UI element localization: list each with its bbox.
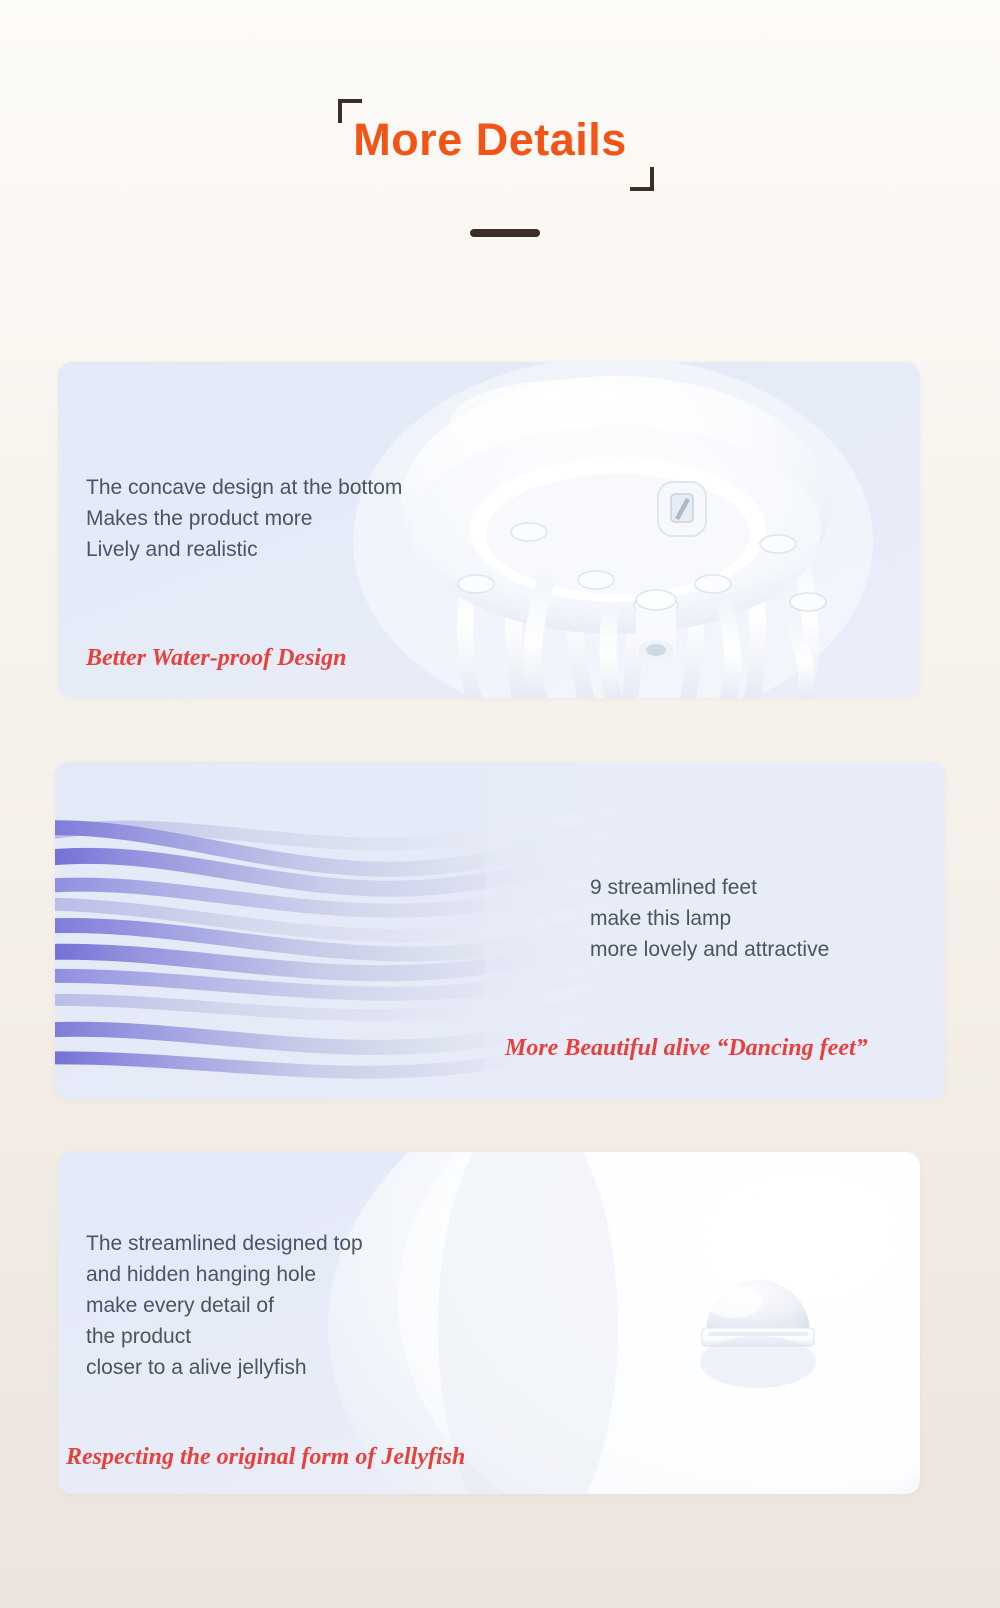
card-2-tagline: More Beautiful alive “Dancing feet” [505, 1035, 868, 1062]
detail-card-hanging-hole: The streamlined designed top and hidden … [58, 1152, 920, 1494]
card-1-body-text: The concave design at the bottom Makes t… [86, 472, 402, 565]
card-3-body-text: The streamlined designed top and hidden … [86, 1228, 363, 1383]
title-underline-dash [470, 229, 540, 237]
corner-bracket-bottom-right-icon [630, 167, 654, 191]
detail-card-waterproof: The concave design at the bottom Makes t… [58, 362, 920, 698]
page-title: More Details [330, 117, 650, 162]
card-2-body-text: 9 streamlined feet make this lamp more l… [590, 872, 829, 965]
card-3-tagline: Respecting the original form of Jellyfis… [66, 1444, 465, 1471]
page-header: More Details [0, 0, 1000, 300]
card-1-tagline: Better Water-proof Design [86, 645, 346, 672]
title-group: More Details [330, 95, 650, 190]
detail-card-dancing-feet: 9 streamlined feet make this lamp more l… [55, 762, 945, 1100]
